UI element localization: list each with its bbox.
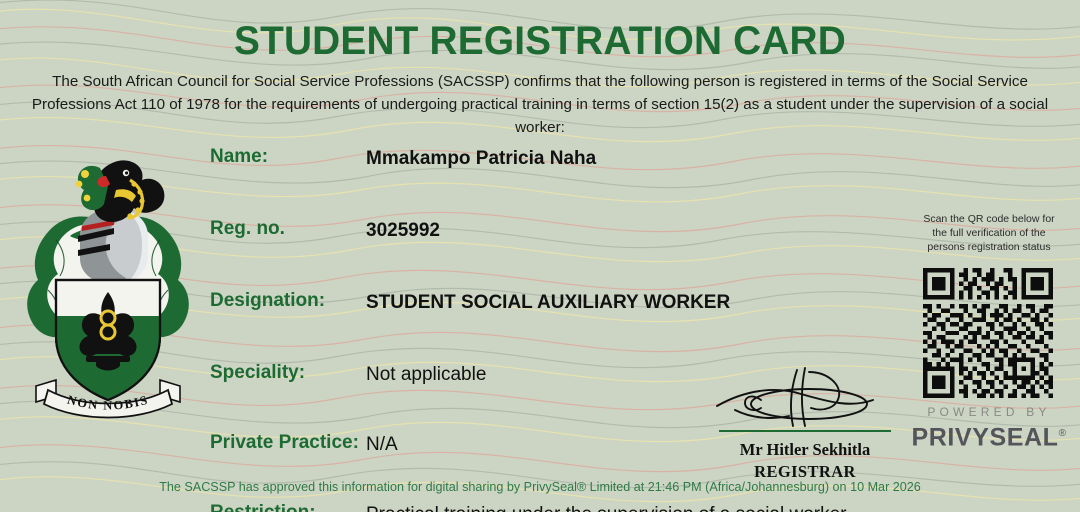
privyseal-wordmark: PRIVYSEAL xyxy=(911,423,1058,451)
field-row-designation: Designation: STUDENT SOCIAL AUXILIARY WO… xyxy=(210,290,910,324)
private-practice-label: Private Practice: xyxy=(210,432,359,454)
coat-of-arms-emblem: NON NOBIS xyxy=(22,140,194,430)
qr-instruction-line-1: Scan the QR code below for xyxy=(905,212,1073,226)
field-row-name: Name: Mmakampo Patricia Naha xyxy=(210,146,910,180)
registration-number-label: Reg. no. xyxy=(210,218,285,240)
intro-paragraph: The South African Council for Social Ser… xyxy=(28,70,1052,139)
qr-instruction-line-2: the full verification of the xyxy=(905,226,1073,240)
qr-code[interactable] xyxy=(921,268,1055,398)
signature-line xyxy=(719,430,891,432)
signature-mark xyxy=(705,366,905,428)
student-registration-card: STUDENT REGISTRATION CARD The South Afri… xyxy=(0,0,1080,512)
privyseal-branding: POWERED BY PRIVYSEAL® xyxy=(905,405,1073,451)
private-practice-value: N/A xyxy=(366,432,398,457)
signature-block: Mr Hitler Sekhitla REGISTRAR xyxy=(705,366,905,483)
restriction-label: Restriction: xyxy=(210,502,316,512)
registration-number-value: 3025992 xyxy=(366,218,440,243)
speciality-value: Not applicable xyxy=(366,362,486,387)
page-title: STUDENT REGISTRATION CARD xyxy=(16,19,1064,64)
privyseal-logo-text: PRIVYSEAL® xyxy=(905,420,1073,451)
name-value: Mmakampo Patricia Naha xyxy=(366,146,596,171)
designation-value: STUDENT SOCIAL AUXILIARY WORKER xyxy=(366,290,730,315)
powered-by-label: POWERED BY xyxy=(905,405,1073,420)
restriction-value: Practical training under the supervision… xyxy=(366,502,862,512)
qr-instruction-text: Scan the QR code below for the full veri… xyxy=(905,212,1073,254)
name-label: Name: xyxy=(210,146,268,168)
field-row-restriction: Restriction: Practical training under th… xyxy=(210,502,910,512)
designation-label: Designation: xyxy=(210,290,325,312)
field-row-registration-number: Reg. no. 3025992 xyxy=(210,218,910,252)
speciality-label: Speciality: xyxy=(210,362,305,384)
registrar-name: Mr Hitler Sekhitla xyxy=(705,439,905,461)
registered-trademark-symbol: ® xyxy=(1059,428,1067,439)
qr-instruction-line-3: persons registration status xyxy=(905,240,1073,254)
shield xyxy=(56,280,160,400)
lion-crest xyxy=(76,160,165,222)
footer-approval-text: The SACSSP has approved this information… xyxy=(0,480,1080,494)
